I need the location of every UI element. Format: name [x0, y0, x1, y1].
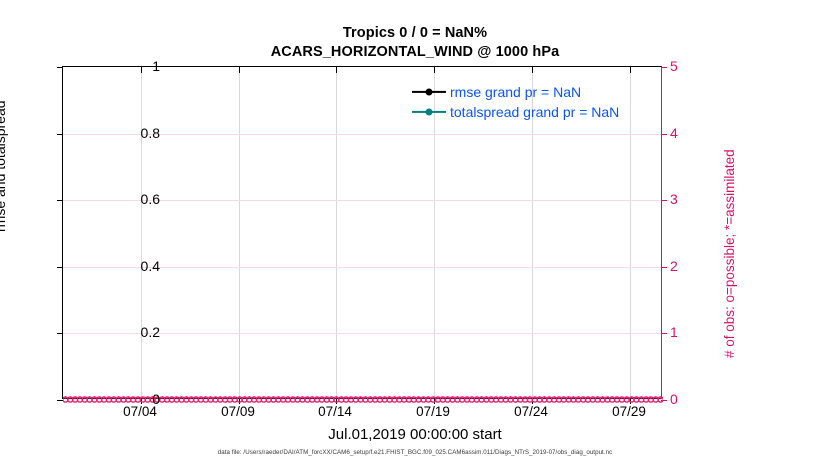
y-tick-mark-right [661, 333, 667, 334]
y-tick-mark-left [57, 134, 63, 135]
data-file-caption: data file: /Users/raeder/DAI/ATM_forcXX/… [0, 449, 830, 456]
x-tick-mark-top [336, 67, 337, 73]
figure-canvas: Tropics 0 / 0 = NaN% ACARS_HORIZONTAL_WI… [0, 0, 830, 470]
y-tick-label-left: 1 [100, 58, 160, 74]
legend-label-totalspread: totalspread grand pr = NaN [450, 104, 619, 120]
y-tick-label-right: 3 [670, 191, 710, 207]
legend-item-totalspread[interactable]: totalspread grand pr = NaN [412, 102, 657, 122]
y-tick-label-left: 0.8 [100, 125, 160, 141]
y-tick-mark-right [661, 267, 667, 268]
y-tick-mark-right [661, 200, 667, 201]
y-tick-label-right: 0 [670, 391, 710, 407]
x-tick-label: 07/09 [221, 404, 255, 419]
y-tick-mark-right [661, 134, 667, 135]
legend-marker-rmse-icon [412, 86, 446, 98]
y-tick-label-left: 0.2 [100, 324, 160, 340]
x-tick-label: 07/24 [514, 404, 548, 419]
y-tick-mark-left [57, 267, 63, 268]
chart-legend: rmse grand pr = NaN totalspread grand pr… [412, 82, 657, 122]
y-tick-mark-left [57, 67, 63, 68]
legend-item-rmse[interactable]: rmse grand pr = NaN [412, 82, 657, 102]
y-tick-label-right: 2 [670, 258, 710, 274]
x-tick-mark-top [630, 67, 631, 73]
x-tick-mark-top [434, 67, 435, 73]
y-tick-mark-left [57, 200, 63, 201]
legend-label-rmse: rmse grand pr = NaN [450, 84, 581, 100]
x-tick-label: 07/14 [318, 404, 352, 419]
x-tick-mark-top [532, 67, 533, 73]
gridline-vertical [141, 67, 142, 398]
gridline-vertical [336, 67, 337, 398]
chart-title: Tropics 0 / 0 = NaN% [0, 24, 830, 43]
y-tick-label-right: 4 [670, 125, 710, 141]
y-tick-mark-right [661, 67, 667, 68]
legend-marker-totalspread-icon [412, 106, 446, 118]
y-axis-right-title: # of obs: o=possible; *=assimilated [722, 149, 737, 358]
x-axis-title: Jul.01,2019 00:00:00 start [0, 426, 830, 443]
x-tick-label: 07/29 [612, 404, 646, 419]
y-tick-label-right: 1 [670, 324, 710, 340]
y-tick-label-right: 5 [670, 58, 710, 74]
x-tick-label: 07/19 [416, 404, 450, 419]
y-tick-mark-left [57, 333, 63, 334]
gridline-vertical [239, 67, 240, 398]
y-axis-left-title: rmse and totalspread [0, 100, 8, 232]
y-tick-label-left: 0.4 [100, 258, 160, 274]
y-tick-label-left: 0.6 [100, 191, 160, 207]
obs-assimilated-marker: * [659, 395, 663, 405]
chart-title-block: Tropics 0 / 0 = NaN% ACARS_HORIZONTAL_WI… [0, 24, 830, 62]
x-tick-mark-top [239, 67, 240, 73]
x-tick-label: 07/04 [123, 404, 157, 419]
